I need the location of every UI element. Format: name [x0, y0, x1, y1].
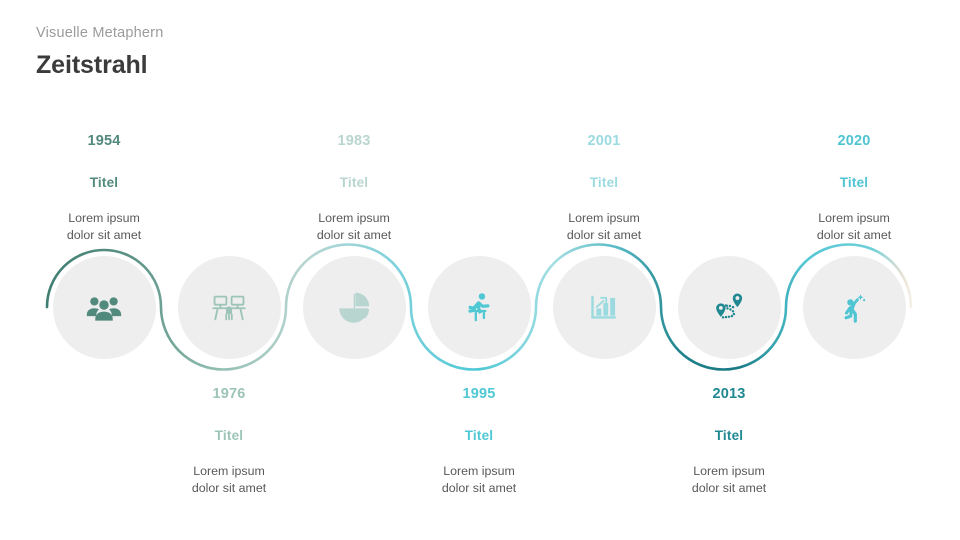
node-text-block: 2013 Titel Lorem ipsum dolor sit amet [634, 387, 824, 497]
node-description-line1: Lorem ipsum [259, 210, 449, 227]
node-description: Lorem ipsum dolor sit amet [134, 463, 324, 497]
node-subtitle: Titel [509, 176, 699, 190]
node-year: 1954 [9, 134, 199, 149]
node-description: Lorem ipsum dolor sit amet [384, 463, 574, 497]
node-description-line1: Lorem ipsum [759, 210, 949, 227]
slide-header: Visuelle Metaphern Zeitstrahl [36, 26, 163, 78]
node-year: 1976 [134, 387, 324, 402]
node-description: Lorem ipsum dolor sit amet [259, 210, 449, 244]
node-year: 1983 [259, 134, 449, 149]
node-subtitle: Titel [134, 429, 324, 443]
node-icon-disc[interactable] [803, 256, 906, 359]
node-description-line1: Lorem ipsum [509, 210, 699, 227]
hurdle-runner-icon [457, 286, 501, 330]
node-description-line2: dolor sit amet [759, 227, 949, 244]
slide-canvas: Visuelle Metaphern Zeitstrahl [0, 0, 960, 540]
node-text-block: 1954 Titel Lorem ipsum dolor sit amet [9, 134, 199, 244]
pie-chart-icon [333, 287, 375, 329]
node-description-line2: dolor sit amet [634, 480, 824, 497]
slide-eyebrow: Visuelle Metaphern [36, 26, 163, 41]
node-description-line1: Lorem ipsum [634, 463, 824, 480]
node-text-block: 1976 Titel Lorem ipsum dolor sit amet [134, 387, 324, 497]
node-subtitle: Titel [759, 176, 949, 190]
node-subtitle: Titel [384, 429, 574, 443]
node-icon-disc[interactable] [678, 256, 781, 359]
node-icon-disc[interactable] [53, 256, 156, 359]
node-description-line1: Lorem ipsum [134, 463, 324, 480]
node-subtitle: Titel [259, 176, 449, 190]
node-year: 1995 [384, 387, 574, 402]
node-year: 2013 [634, 387, 824, 402]
route-map-pins-icon [707, 286, 751, 330]
node-subtitle: Titel [9, 176, 199, 190]
growth-bar-chart-icon [583, 287, 625, 329]
node-description-line2: dolor sit amet [384, 480, 574, 497]
node-text-block: 2020 Titel Lorem ipsum dolor sit amet [759, 134, 949, 244]
reaching-star-person-icon [833, 287, 875, 329]
node-description-line1: Lorem ipsum [384, 463, 574, 480]
node-icon-disc[interactable] [428, 256, 531, 359]
group-people-icon [83, 287, 125, 329]
node-description: Lorem ipsum dolor sit amet [634, 463, 824, 497]
node-subtitle: Titel [634, 429, 824, 443]
node-icon-disc[interactable] [303, 256, 406, 359]
node-icon-disc[interactable] [178, 256, 281, 359]
node-description-line2: dolor sit amet [9, 227, 199, 244]
node-icon-disc[interactable] [553, 256, 656, 359]
node-description-line2: dolor sit amet [134, 480, 324, 497]
node-description-line2: dolor sit amet [509, 227, 699, 244]
node-text-block: 1995 Titel Lorem ipsum dolor sit amet [384, 387, 574, 497]
node-year: 2001 [509, 134, 699, 149]
workstation-desk-icon [208, 287, 250, 329]
node-description-line2: dolor sit amet [259, 227, 449, 244]
node-text-block: 1983 Titel Lorem ipsum dolor sit amet [259, 134, 449, 244]
node-description: Lorem ipsum dolor sit amet [509, 210, 699, 244]
node-description-line1: Lorem ipsum [9, 210, 199, 227]
node-description: Lorem ipsum dolor sit amet [9, 210, 199, 244]
node-description: Lorem ipsum dolor sit amet [759, 210, 949, 244]
node-year: 2020 [759, 134, 949, 149]
node-text-block: 2001 Titel Lorem ipsum dolor sit amet [509, 134, 699, 244]
page-title: Zeitstrahl [36, 53, 163, 78]
